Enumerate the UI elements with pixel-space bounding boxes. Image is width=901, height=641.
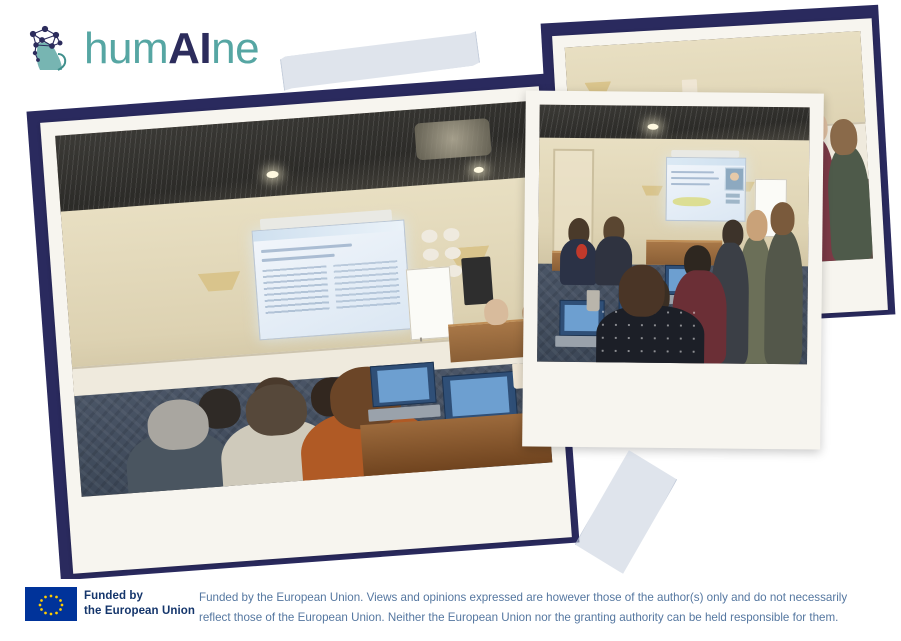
european-union-flag [25, 587, 77, 621]
washi-tape-bottom [573, 448, 679, 575]
slide-canvas: humAIne [0, 0, 901, 641]
humaine-logo: humAIne [22, 18, 262, 80]
logo-text-ne: ne [211, 24, 259, 73]
footer: Funded by the European Union Funded by t… [0, 579, 901, 641]
eu-funding-line1: Funded by [84, 589, 195, 604]
logo-text-ai: AI [168, 24, 211, 73]
eu-funding-line2: the European Union [84, 604, 195, 619]
polaroid-front [522, 90, 824, 449]
polaroid-main [40, 86, 572, 573]
logo-text-hum: hum [84, 24, 168, 73]
audience-seated-photo [55, 101, 552, 497]
logo-wordmark: humAIne [84, 24, 259, 74]
neural-network-head-icon [22, 20, 82, 78]
presentation-hybrid-meeting-photo [537, 105, 810, 365]
eu-funding-label: Funded by the European Union [84, 589, 195, 619]
eu-disclaimer-text: Funded by the European Union. Views and … [199, 588, 879, 628]
